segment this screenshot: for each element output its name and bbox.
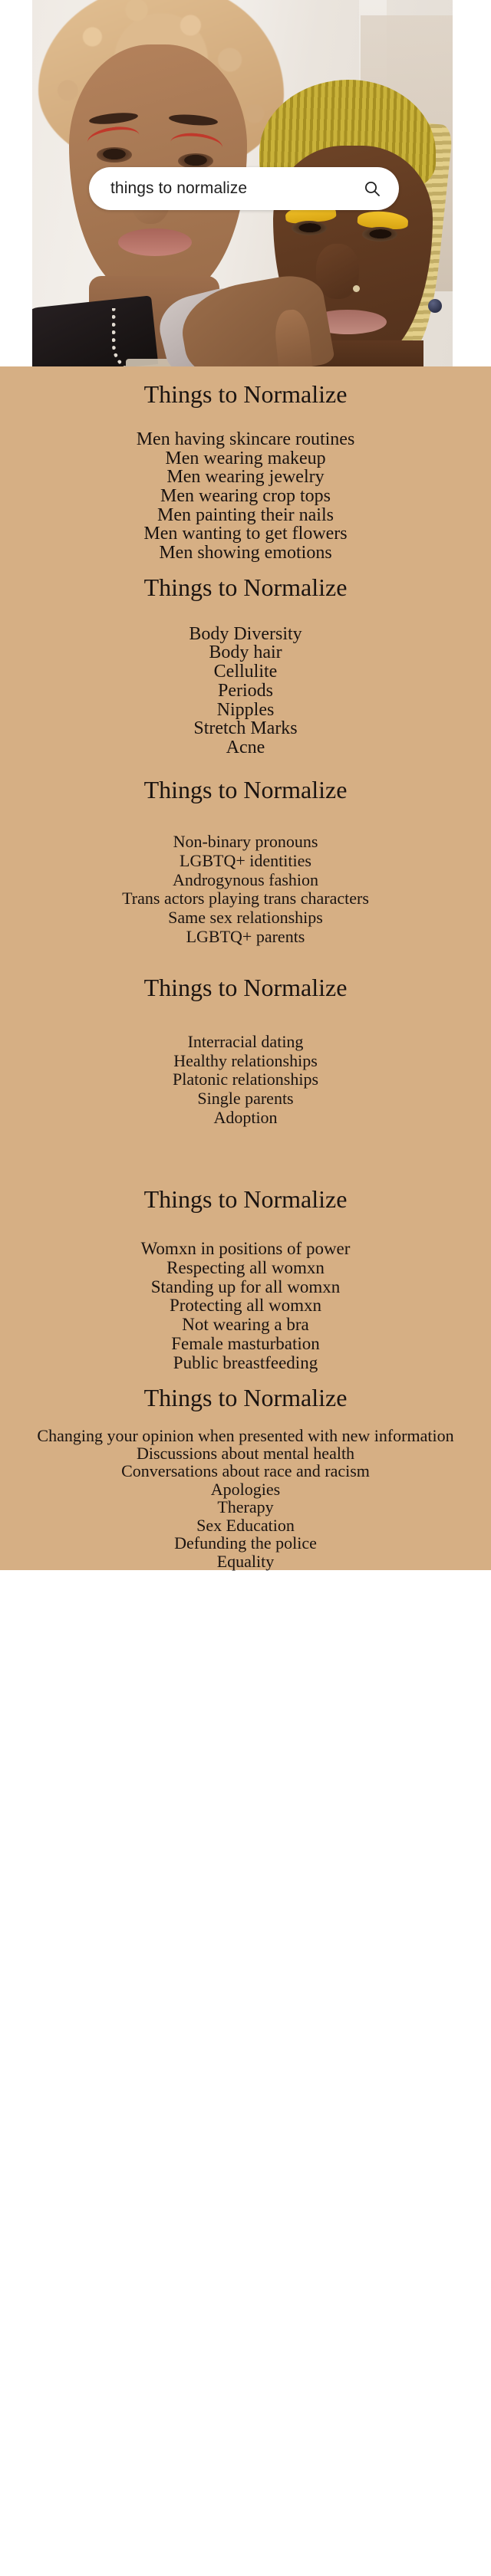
- list-item: Adoption: [0, 1109, 491, 1128]
- list-item: Equality: [0, 1552, 491, 1571]
- list-item: Standing up for all womxn: [0, 1278, 491, 1297]
- list-item: Cellulite: [0, 662, 491, 682]
- person-right-eye: [362, 227, 397, 242]
- section-heading: Things to Normalize: [0, 573, 491, 602]
- list-item: Periods: [0, 682, 491, 701]
- list-item: Interracial dating: [0, 1033, 491, 1052]
- section-item-list: Womxn in positions of power Respecting a…: [0, 1240, 491, 1373]
- list-item: Healthy relationships: [0, 1052, 491, 1071]
- list-item: Men showing emotions: [0, 544, 491, 563]
- list-item: Platonic relationships: [0, 1070, 491, 1089]
- normalize-section: Things to Normalize Men having skincare …: [0, 366, 491, 563]
- list-item: Trans actors playing trans characters: [0, 889, 491, 909]
- search-icon[interactable]: [362, 179, 382, 199]
- list-item: Defunding the police: [0, 1534, 491, 1552]
- normalize-section: Things to Normalize Changing your opinio…: [0, 1373, 491, 1571]
- search-input[interactable]: things to normalize: [110, 179, 362, 198]
- list-item: Body hair: [0, 643, 491, 662]
- list-item: Nipples: [0, 701, 491, 720]
- list-item: Public breastfeeding: [0, 1354, 491, 1373]
- person-left-eye: [178, 153, 213, 169]
- list-item: Men wearing crop tops: [0, 487, 491, 506]
- list-item: Men wanting to get flowers: [0, 524, 491, 544]
- list-item: Androgynous fashion: [0, 871, 491, 890]
- list-item: Therapy: [0, 1498, 491, 1516]
- list-item: Stretch Marks: [0, 719, 491, 738]
- normalize-section: Things to Normalize Non-binary pronouns …: [0, 757, 491, 947]
- section-heading: Things to Normalize: [0, 380, 491, 409]
- list-item: Conversations about race and racism: [0, 1462, 491, 1480]
- list-item: Men having skincare routines: [0, 430, 491, 449]
- normalize-list-area: Things to Normalize Men having skincare …: [0, 366, 491, 1570]
- list-item: Not wearing a bra: [0, 1316, 491, 1335]
- list-item: LGBTQ+ identities: [0, 852, 491, 871]
- list-item: Discussions about mental health: [0, 1444, 491, 1463]
- list-item: Men wearing makeup: [0, 449, 491, 468]
- person-right-eye: [292, 221, 327, 235]
- list-item: Men wearing jewelry: [0, 468, 491, 487]
- section-heading: Things to Normalize: [0, 1384, 491, 1412]
- normalize-section: Things to Normalize Body Diversity Body …: [0, 563, 491, 757]
- normalize-section: Things to Normalize Interracial dating H…: [0, 946, 491, 1127]
- section-item-list: Non-binary pronouns LGBTQ+ identities An…: [0, 833, 491, 946]
- section-heading: Things to Normalize: [0, 1185, 491, 1214]
- person-left-eye: [97, 147, 132, 163]
- list-item: Respecting all womxn: [0, 1259, 491, 1278]
- section-item-list: Interracial dating Healthy relationships…: [0, 1033, 491, 1127]
- header-photo: things to normalize: [0, 0, 491, 366]
- list-item: Sex Education: [0, 1516, 491, 1535]
- list-item: Acne: [0, 738, 491, 757]
- person-left-lips: [118, 228, 192, 256]
- list-item: Changing your opinion when presented wit…: [0, 1428, 491, 1444]
- person-right-earring: [428, 299, 442, 313]
- person-right-nose: [316, 244, 359, 299]
- list-item: Men painting their nails: [0, 506, 491, 525]
- section-heading: Things to Normalize: [0, 974, 491, 1002]
- section-heading: Things to Normalize: [0, 776, 491, 804]
- section-item-list: Body Diversity Body hair Cellulite Perio…: [0, 625, 491, 757]
- list-item: Protecting all womxn: [0, 1296, 491, 1316]
- search-bar[interactable]: things to normalize: [89, 167, 399, 210]
- list-item: Womxn in positions of power: [0, 1240, 491, 1259]
- list-item: Same sex relationships: [0, 909, 491, 928]
- list-item: LGBTQ+ parents: [0, 928, 491, 947]
- person-right-nose-stud: [353, 285, 360, 292]
- section-item-list: Men having skincare routines Men wearing…: [0, 430, 491, 563]
- list-item: Non-binary pronouns: [0, 833, 491, 852]
- list-item: Apologies: [0, 1480, 491, 1499]
- list-item: Single parents: [0, 1089, 491, 1109]
- list-item: Female masturbation: [0, 1335, 491, 1354]
- list-item: Body Diversity: [0, 625, 491, 644]
- normalize-section: Things to Normalize Womxn in positions o…: [0, 1127, 491, 1373]
- section-item-list: Changing your opinion when presented wit…: [0, 1428, 491, 1571]
